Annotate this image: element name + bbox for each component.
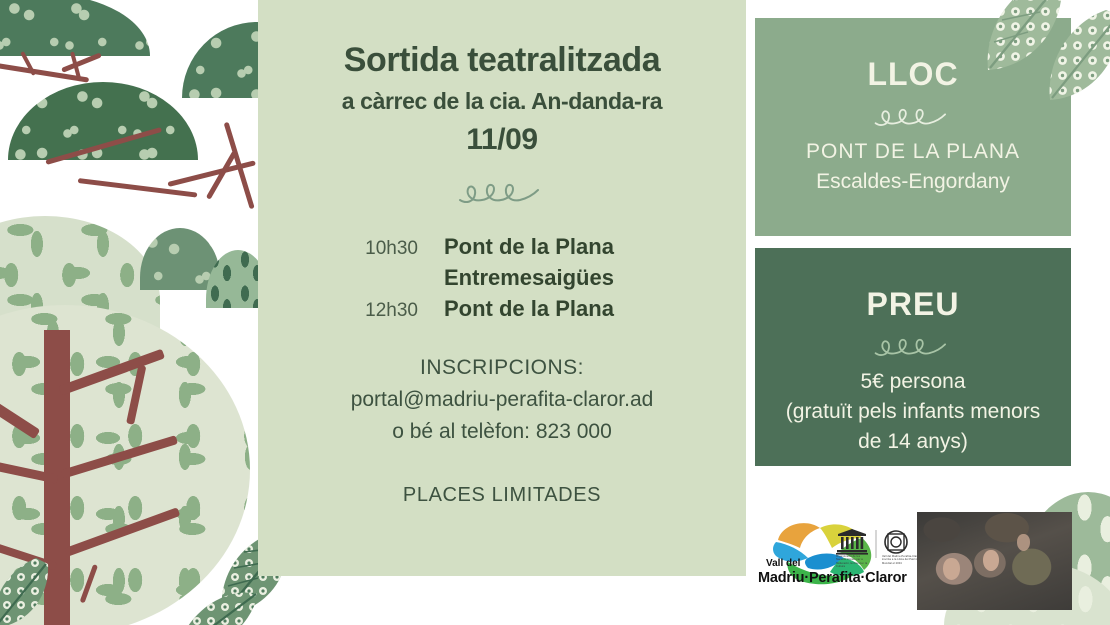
tree-branch-icon	[78, 178, 198, 198]
poster-date: 11/09	[258, 122, 746, 158]
theatre-company-photo	[917, 512, 1072, 610]
panel-preu-line1: 5€ persona	[755, 367, 1071, 397]
tree-branch-icon	[0, 62, 89, 83]
tree-branch-icon	[20, 51, 36, 76]
photo-face	[943, 558, 960, 580]
schedule-time: 10h30	[310, 238, 444, 260]
panel-lloc-line1: PONT DE LA PLANA	[755, 137, 1071, 167]
patterned-leaf-icon	[176, 586, 262, 625]
tree-trunk-icon	[44, 330, 70, 625]
tree-branch-icon	[126, 364, 146, 424]
tree-branch-icon	[206, 150, 237, 199]
schedule-place: Entremesaigües	[444, 265, 614, 291]
tree-branch-icon	[224, 122, 255, 210]
unesco-logo-group: Organització de les Nacions Unides per a…	[832, 528, 924, 570]
tree-branch-icon	[64, 507, 180, 556]
tree-branch-icon	[0, 452, 59, 484]
logo-strip: Vall del Madriu·Perafita·Claror	[752, 508, 932, 600]
patterned-leaf-icon	[0, 556, 56, 625]
panel-preu-title: PREU	[755, 286, 1071, 323]
schedule-time: 12h30	[310, 300, 444, 322]
poster-canvas: Sortida teatralitzada a càrrec de la cia…	[0, 0, 1110, 625]
squiggle-loops-divider-icon	[872, 335, 954, 359]
panel-preu: PREU 5€ persona (gratuït pels infants me…	[755, 248, 1071, 466]
squiggle-loops-divider-icon	[456, 180, 548, 206]
inscriptions-heading: INSCRIPCIONS:	[258, 352, 746, 384]
mpc-logo-subtitle: Vall del	[766, 558, 800, 569]
unesco-temple-icon	[836, 529, 868, 555]
panel-preu-body: 5€ persona (gratuït pels infants menors …	[755, 367, 1071, 457]
inscriptions-email[interactable]: portal@madriu-perafita-claror.ad	[258, 384, 746, 416]
tree-branch-icon	[61, 435, 178, 479]
photo-face	[1017, 534, 1030, 551]
tree-branch-icon	[58, 349, 165, 396]
schedule-row: 10h30 Pont de la Plana	[310, 234, 746, 260]
panel-lloc-body: PONT DE LA PLANA Escaldes-Engordany	[755, 137, 1071, 197]
panel-preu-line2: (gratuït pels infants menors	[755, 397, 1071, 427]
main-info-card: Sortida teatralitzada a càrrec de la cia…	[258, 0, 746, 576]
schedule-list: 10h30 Pont de la Plana Entremesaigües 12…	[258, 234, 746, 322]
inscriptions-phone: o bé al telèfon: 823 000	[258, 416, 746, 448]
tree-branch-icon	[167, 160, 256, 187]
limited-places-note: PLACES LIMITADES	[258, 484, 746, 507]
unesco-caption: Organització de les Nacions Unides per a…	[836, 555, 870, 569]
tree-branch-icon	[80, 564, 98, 603]
schedule-place: Pont de la Plana	[444, 296, 614, 322]
tree-canopy-icon	[8, 82, 198, 160]
shrub-icon	[140, 228, 220, 290]
tree-branch-icon	[61, 52, 102, 72]
panel-lloc-line2: Escaldes-Engordany	[755, 167, 1071, 197]
tree-branch-icon	[45, 127, 162, 165]
shrub-icon	[0, 216, 160, 336]
tree-branch-icon	[0, 538, 57, 570]
photo-face	[983, 550, 999, 571]
schedule-place: Pont de la Plana	[444, 234, 614, 260]
schedule-row: 12h30 Pont de la Plana	[310, 296, 746, 322]
panel-lloc-title: LLOC	[755, 56, 1071, 93]
panel-lloc: LLOC PONT DE LA PLANA Escaldes-Engordany	[755, 18, 1071, 236]
mpc-logo-name: Madriu·Perafita·Claror	[758, 570, 907, 586]
tree-branch-icon	[70, 51, 82, 81]
world-heritage-emblem-icon	[885, 531, 907, 553]
tree-branch-icon	[0, 367, 40, 439]
schedule-row: Entremesaigües	[310, 265, 746, 291]
tree-crown-icon	[0, 305, 250, 625]
world-heritage-caption: Vall del Madriu-Perafita-Claror inscrita…	[882, 555, 922, 565]
page-title: Sortida teatralitzada	[258, 40, 746, 80]
squiggle-loops-divider-icon	[872, 105, 954, 129]
panel-preu-line3: de 14 anys)	[755, 427, 1071, 457]
inscriptions-block: INSCRIPCIONS: portal@madriu-perafita-cla…	[258, 352, 746, 448]
poster-subtitle: a càrrec de la cia. An-danda-ra	[258, 86, 746, 116]
tree-canopy-icon	[0, 0, 150, 56]
